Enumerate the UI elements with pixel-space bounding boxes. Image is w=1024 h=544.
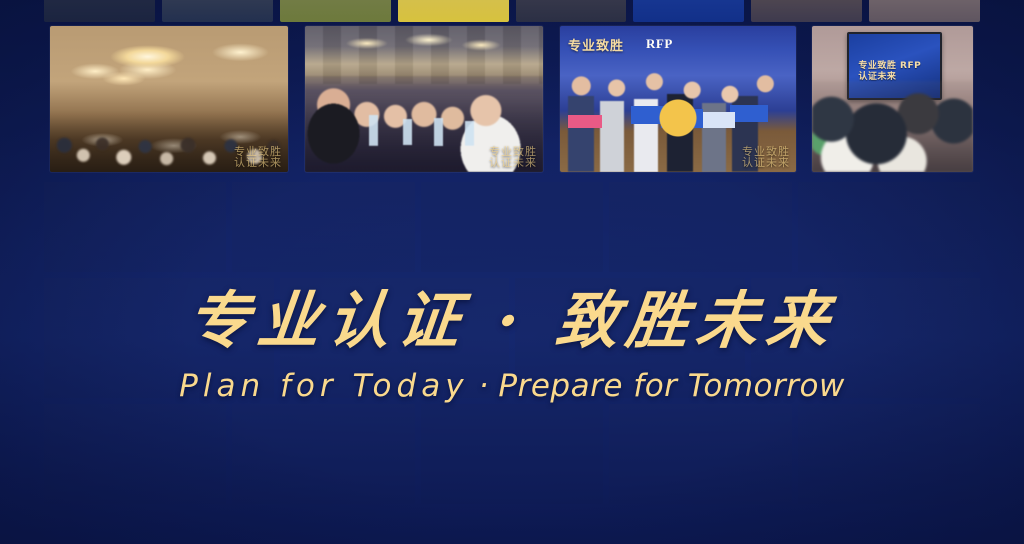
headline-english: Plan for Today·Prepare for Tomorrow [0, 368, 1024, 404]
headline-block: 专业认证 · 致胜未来 Plan for Today·Prepare for T… [0, 286, 1024, 404]
photo-group-toast[interactable]: 专业致胜 认证未来 [305, 26, 543, 172]
strip-photo [751, 0, 862, 22]
photo-stage-award-group[interactable]: 专业致胜 RFP 专业致胜 认证未来 [560, 26, 796, 172]
strip-photo [280, 0, 391, 22]
photo-watermark: 专业致胜 认证未来 [234, 146, 282, 168]
headline-english-part1: Plan for Today [179, 368, 468, 404]
hero-photo-row: 专业致胜 认证未来 专业致胜 认证未来 专业致胜 RFP 专业致胜 认证未来 专 [0, 26, 1024, 172]
stage-banner-en: RFP [646, 36, 673, 52]
poster-canvas: 专业致胜 认证未来 专业致胜 认证未来 专业致胜 RFP 专业致胜 认证未来 专 [0, 0, 1024, 544]
strip-photo [162, 0, 273, 22]
placards-detail [560, 99, 796, 137]
photo-watermark: 专业致胜 认证未来 [489, 146, 537, 168]
screen-text: 专业致胜 RFP 认证未来 [858, 61, 921, 83]
photo-audience-screen[interactable]: 专业致胜 RFP 认证未来 [812, 26, 973, 172]
strip-photo [869, 0, 980, 22]
photo-banquet-hall[interactable]: 专业致胜 认证未来 [50, 26, 288, 172]
headline-chinese: 专业认证 · 致胜未来 [0, 286, 1024, 356]
stage-banner-cn: 专业致胜 [568, 35, 624, 54]
headline-english-part2: Prepare for Tomorrow [498, 368, 844, 404]
strip-photo [44, 0, 155, 22]
strip-photo [633, 0, 744, 22]
audience-heads [812, 81, 973, 172]
photo-audience-screen-image: 专业致胜 RFP 认证未来 [812, 26, 973, 172]
strip-photo [516, 0, 627, 22]
photo-watermark: 专业致胜 认证未来 [742, 146, 790, 168]
headline-english-separator: · [469, 368, 499, 404]
strip-photo [398, 0, 509, 22]
top-photo-strip [0, 0, 1024, 22]
bottles-detail [362, 102, 491, 146]
